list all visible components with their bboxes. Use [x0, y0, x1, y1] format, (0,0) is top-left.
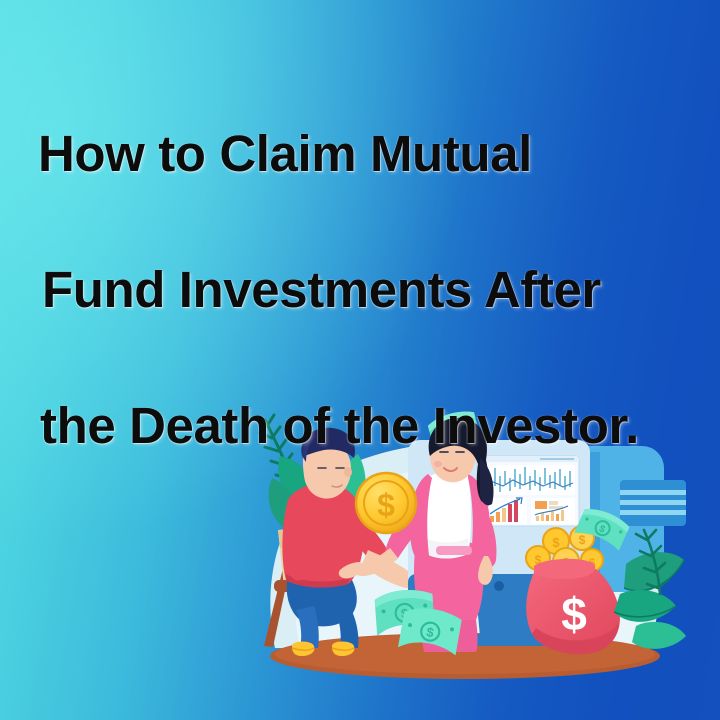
poster-canvas: How to Claim Mutual Fund Investments Aft… — [0, 0, 720, 720]
headline-line-1: How to Claim Mutual — [38, 120, 693, 188]
headline-line-2: Fund Investments After — [38, 256, 693, 324]
svg-text:$: $ — [552, 535, 560, 550]
headline-line-3: the Death of the Investor. — [38, 392, 693, 460]
svg-text:$: $ — [579, 533, 586, 547]
money-bag-dollar-symbol: $ — [561, 588, 587, 640]
page-title: How to Claim Mutual Fund Investments Aft… — [38, 52, 693, 528]
